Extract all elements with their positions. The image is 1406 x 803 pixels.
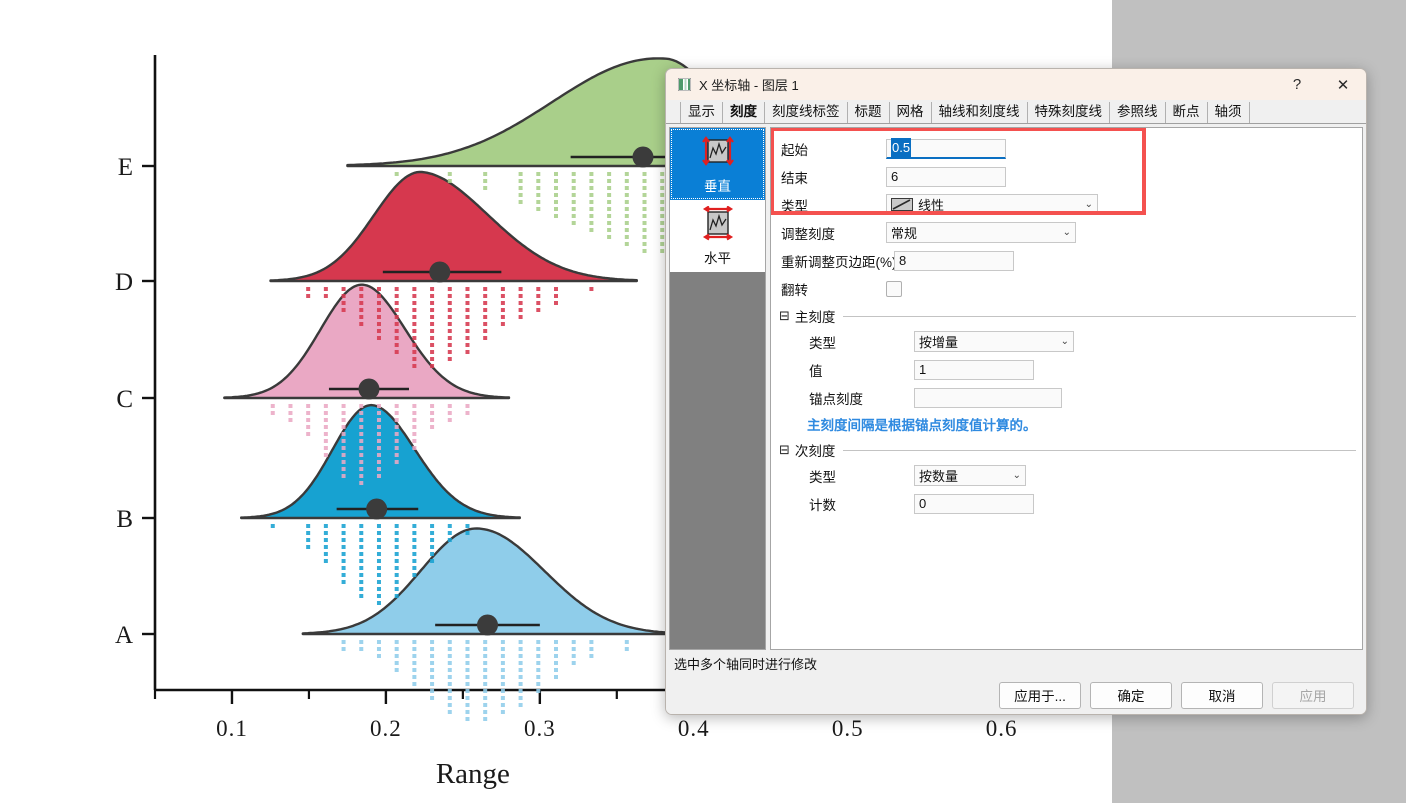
rain-dot [589,640,593,644]
rain-dot [465,717,469,721]
rain-dot [501,647,505,651]
y-tick-label: D [115,269,133,296]
tab-bar: 显示刻度刻度线标签标题网格轴线和刻度线特殊刻度线参照线断点轴须 [666,100,1366,124]
rain-dot [412,432,416,436]
rain-dot [536,654,540,658]
rain-dot [306,294,310,298]
rain-dot [607,186,611,190]
rain-dot [377,524,381,528]
chevron-down-icon: ⌄ [1063,227,1071,238]
rain-dot [412,566,416,570]
y-tick-label: E [118,154,133,181]
rain-dot [589,193,593,197]
rain-dot [395,418,399,422]
rain-dot [359,287,363,291]
rain-dot [359,315,363,319]
tab-5[interactable]: 轴线和刻度线 [932,102,1028,123]
rain-dot [395,545,399,549]
dialog-button-0[interactable]: 应用于... [999,682,1081,709]
x-tick-label: 0.1 [216,716,248,741]
axis-option-0[interactable]: 垂直 [670,128,765,200]
rain-dot [625,640,629,644]
rain-dot [589,200,593,204]
rain-dot [342,453,346,457]
rain-dot [395,531,399,535]
rain-dot [554,287,558,291]
type-label: 类型 [771,195,886,215]
row-flip: 翻转 [771,277,1362,300]
rain-dot [448,682,452,686]
rain-dot [395,566,399,570]
rain-dot [465,675,469,679]
rain-dot [324,453,328,457]
rain-dot [660,207,664,211]
rain-dot [342,640,346,644]
rain-dot [572,640,576,644]
rain-dot [306,432,310,436]
rain-dot [483,301,487,305]
rain-dot [643,207,647,211]
dialog-title: X 坐标轴 - 图层 1 [699,75,799,94]
group-divider [843,316,1356,317]
rain-dot [607,200,611,204]
rain-dot [430,531,434,535]
rain-dot [377,432,381,436]
rain-dot [377,315,381,319]
rain-dot [465,322,469,326]
anchor-input[interactable] [914,388,1062,408]
rain-dot [448,357,452,361]
rain-dot [554,172,558,176]
rain-dot [377,640,381,644]
rain-dot [465,343,469,347]
rain-dot [554,193,558,197]
rain-dot [430,689,434,693]
tab-0[interactable]: 显示 [680,102,723,123]
rain-dot [536,308,540,312]
tab-9[interactable]: 轴须 [1208,102,1250,123]
rain-dot [465,640,469,644]
rain-dot [501,696,505,700]
rain-dot [536,179,540,183]
rain-dot [395,425,399,429]
rain-dot [660,179,664,183]
rain-dot [660,228,664,232]
major-type-value: 按增量 [919,332,958,351]
rain-dot [412,573,416,577]
type-value: 线性 [918,195,944,214]
rain-dot [377,545,381,549]
rain-dot [572,179,576,183]
rain-dot [519,640,523,644]
rain-dot [483,336,487,340]
rain-dot [465,531,469,535]
rain-dot [430,559,434,563]
rain-dot [554,654,558,658]
rain-dot [359,580,363,584]
rain-dot [536,640,540,644]
axis-dialog: X 坐标轴 - 图层 1 ? ✕ 显示刻度刻度线标签标题网格轴线和刻度线特殊刻度… [665,68,1367,715]
rain-dot [412,404,416,408]
rain-dot [412,308,416,312]
rain-dot [660,186,664,190]
rain-dot [448,661,452,665]
rain-dot [448,668,452,672]
rain-dot [342,580,346,584]
rain-dot [412,357,416,361]
rain-dot [342,552,346,556]
rain-dot [359,573,363,577]
rain-dot [448,696,452,700]
rain-dot [643,200,647,204]
rain-dot [359,559,363,563]
rain-dot [359,594,363,598]
rain-dot [342,308,346,312]
rain-dot [395,524,399,528]
rain-dot [306,538,310,542]
rain-dot [412,559,416,563]
close-button[interactable]: ✕ [1320,69,1366,100]
rain-dot [448,179,452,183]
rain-dot [607,235,611,239]
horizontal-axis-icon [695,206,741,244]
rain-dot [625,200,629,204]
rain-dot [342,545,346,549]
tab-1[interactable]: 刻度 [723,102,765,123]
rain-dot [306,425,310,429]
rain-dot [359,460,363,464]
rain-dot [501,682,505,686]
rain-dot [554,675,558,679]
rain-dot [483,689,487,693]
dialog-button-2[interactable]: 取消 [1181,682,1263,709]
axis-option-label-1: 水平 [704,247,731,267]
rain-dot [554,661,558,665]
rain-dot [536,207,540,211]
rain-dot [536,294,540,298]
rain-dot [377,559,381,563]
rain-dot [465,308,469,312]
rain-dot [359,301,363,305]
rain-dot [342,531,346,535]
rain-dot [412,682,416,686]
rain-dot [430,545,434,549]
rain-dot [483,315,487,319]
rain-dot [359,411,363,415]
axis-option-1[interactable]: 水平 [670,200,765,272]
rain-dot [395,661,399,665]
rain-dot [536,193,540,197]
rain-dot [271,524,275,528]
rain-dot [359,439,363,443]
rain-dot [660,221,664,225]
rain-dot [430,696,434,700]
rain-dot [306,524,310,528]
rain-dot [448,689,452,693]
start-input[interactable]: 0.5 [886,139,1006,159]
rain-dot [465,350,469,354]
end-input[interactable]: 6 [886,167,1006,187]
rain-dot [519,668,523,672]
rain-dot [607,221,611,225]
end-label: 结束 [771,167,886,187]
rain-dot [643,228,647,232]
rain-dot [412,315,416,319]
rain-dot [342,647,346,651]
rain-dot [448,538,452,542]
y-tick-label: B [116,506,133,533]
major-value-label: 值 [771,360,914,380]
rain-dot [448,710,452,714]
axis-selector-panel: 垂直水平 [669,127,766,650]
tab-3[interactable]: 标题 [848,102,890,123]
rain-dot [536,301,540,305]
dialog-button-3: 应用 [1272,682,1354,709]
rain-dot [412,322,416,326]
rain-dot [430,322,434,326]
rain-dot [483,172,487,176]
rain-dot [448,294,452,298]
rain-dot [448,315,452,319]
major-type-combo[interactable]: 按增量 ⌄ [914,331,1074,352]
x-tick-label: 0.4 [678,716,710,741]
rain-dot [395,647,399,651]
rain-dot [448,308,452,312]
minor-count-input[interactable]: 0 [914,494,1034,514]
rain-dot [430,682,434,686]
rain-dot [430,552,434,556]
rain-dot [554,647,558,651]
rain-dot [572,654,576,658]
rain-dot [430,404,434,408]
rain-dot [377,587,381,591]
rain-dot [554,207,558,211]
rain-dot [519,703,523,707]
rain-dot [483,308,487,312]
rain-dot [483,640,487,644]
rain-dot [412,538,416,542]
rain-dot [412,425,416,429]
rain-dot [501,640,505,644]
rain-dot [465,703,469,707]
rain-dot [448,322,452,326]
rain-dot [395,172,399,176]
type-combo[interactable]: 线性 ⌄ [886,194,1098,215]
rain-dot [607,228,611,232]
rain-dot [395,315,399,319]
chevron-down-icon: ⌄ [1013,470,1021,481]
rain-dot [324,524,328,528]
rain-dot [377,439,381,443]
major-value-input[interactable]: 1 [914,360,1034,380]
rain-dot [412,439,416,443]
rain-dot [359,552,363,556]
rain-dot [572,207,576,211]
rain-dot [589,647,593,651]
rain-dot [377,329,381,333]
rain-dot [625,207,629,211]
rain-dot [342,446,346,450]
rain-dot [589,172,593,176]
margin-input[interactable]: 8 [894,251,1014,271]
scale-form-panel: 起始 0.5 结束 6 类型 [770,127,1363,650]
rain-dot [359,467,363,471]
rain-dot [395,453,399,457]
rain-dot [519,287,523,291]
rain-dot [377,453,381,457]
rain-dot [395,552,399,556]
rain-dot [324,287,328,291]
rain-dot [536,186,540,190]
collapse-minus-icon[interactable]: ⊟ [779,444,790,457]
rain-dot [625,242,629,246]
rain-dot [377,647,381,651]
rain-dot [395,329,399,333]
rain-dot [589,228,593,232]
rain-dot [501,675,505,679]
rain-dot [536,661,540,665]
rain-dot [377,404,381,408]
rain-dot [448,418,452,422]
flip-checkbox[interactable] [886,281,902,297]
rain-dot [448,640,452,644]
tab-7[interactable]: 参照线 [1110,102,1166,123]
rain-dot [395,411,399,415]
row-end: 结束 6 [771,165,1362,188]
rain-dot [324,552,328,556]
rain-dot [572,172,576,176]
rain-dot [377,601,381,605]
rain-dot [306,418,310,422]
rain-dot [377,336,381,340]
rain-dot [554,179,558,183]
rain-dot [519,172,523,176]
rain-dot [465,404,469,408]
tab-8[interactable]: 断点 [1166,102,1208,123]
rain-dot [519,696,523,700]
minor-type-combo[interactable]: 按数量 ⌄ [914,465,1026,486]
rain-dot [324,559,328,563]
rain-dot [395,294,399,298]
rain-dot [342,301,346,305]
major-tick-hint: 主刻度间隔是根据锚点刻度值计算的。 [807,414,1362,434]
rain-dot [448,329,452,333]
rain-dot [395,343,399,347]
rain-dot [448,531,452,535]
rain-dot [395,573,399,577]
axis-grid-icon [678,78,691,91]
rain-dot [465,647,469,651]
rain-dot [572,193,576,197]
rain-dot [288,411,292,415]
rain-dot [465,661,469,665]
rain-dot [465,682,469,686]
rain-dot [660,235,664,239]
rain-dot [430,647,434,651]
rain-dot [306,411,310,415]
rain-dot [359,425,363,429]
rain-dot [342,418,346,422]
rain-dot [465,287,469,291]
rain-dot [589,214,593,218]
tab-4[interactable]: 网格 [890,102,932,123]
rain-dot [519,186,523,190]
major-type-label: 类型 [771,332,914,352]
rain-dot [536,647,540,651]
rain-dot [359,647,363,651]
row-minor-type: 类型 按数量 ⌄ [771,464,1362,487]
rain-dot [395,404,399,408]
rain-dot [465,329,469,333]
rain-dot [412,343,416,347]
row-rescale: 调整刻度 常规 ⌄ [771,221,1362,244]
rain-dot [643,242,647,246]
rain-dot [395,580,399,584]
rain-dot [430,287,434,291]
rain-dot [643,172,647,176]
collapse-minus-icon[interactable]: ⊟ [779,310,790,323]
rain-dot [377,460,381,464]
rain-dot [519,647,523,651]
dialog-button-1[interactable]: 确定 [1090,682,1172,709]
rain-dot [519,689,523,693]
rain-dot [342,287,346,291]
rain-dot [625,214,629,218]
rain-dot [572,200,576,204]
rain-dot [465,696,469,700]
rain-dot [430,315,434,319]
rain-dot [519,193,523,197]
rain-dot [519,301,523,305]
rain-dot [589,221,593,225]
rain-dot [448,654,452,658]
rain-dot [359,418,363,422]
rain-dot [589,186,593,190]
start-value: 0.5 [891,138,911,158]
rain-dot [306,404,310,408]
rain-dot [501,668,505,672]
rain-dot [342,467,346,471]
median-point [366,499,387,520]
rain-dot [660,214,664,218]
flip-label: 翻转 [771,279,886,299]
rescale-combo[interactable]: 常规 ⌄ [886,222,1076,243]
rain-dot [342,524,346,528]
rain-dot [377,308,381,312]
rain-dot [395,654,399,658]
minor-group-title: 次刻度 [795,440,836,460]
rain-dot [377,411,381,415]
median-point [477,615,498,636]
x-tick-label: 0.2 [370,716,402,741]
rain-dot [501,308,505,312]
tab-2[interactable]: 刻度线标签 [765,102,848,123]
rain-dot [377,538,381,542]
rain-dot [625,172,629,176]
rain-dot [519,654,523,658]
rain-dot [519,675,523,679]
rescale-label: 调整刻度 [771,223,886,243]
rain-dot [501,703,505,707]
rain-dot [412,411,416,415]
rain-dot [643,214,647,218]
rain-dot [483,703,487,707]
help-button[interactable]: ? [1274,69,1320,100]
rain-dot [412,287,416,291]
row-major-value: 值 1 [771,358,1362,381]
tab-6[interactable]: 特殊刻度线 [1028,102,1111,123]
rain-dot [359,404,363,408]
